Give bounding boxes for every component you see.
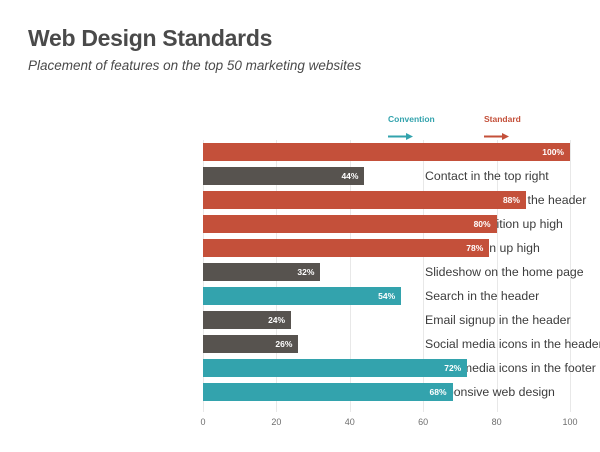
bar-track: 72% [203, 356, 570, 380]
x-axis-tick-label: 80 [492, 417, 502, 427]
chart-bar-row: Search in the header54% [0, 284, 600, 308]
bar-track: 44% [203, 164, 570, 188]
bar-value-label: 88% [503, 191, 520, 209]
chart-bar-row: Call to action up high78% [0, 236, 600, 260]
chart-plot-area: Logo in the top left100%Contact in the t… [0, 0, 600, 452]
bar[interactable]: 26% [203, 335, 298, 353]
bar-value-label: 78% [466, 239, 483, 257]
chart-x-axis: 020406080100 [203, 412, 570, 434]
bar[interactable]: 54% [203, 287, 401, 305]
bar[interactable]: 88% [203, 191, 526, 209]
x-axis-tick-label: 0 [200, 417, 205, 427]
x-axis-tick-label: 20 [271, 417, 281, 427]
chart-bar-row: Value proposition up high80% [0, 212, 600, 236]
bar-value-label: 68% [430, 383, 447, 401]
x-axis-tick-label: 100 [562, 417, 577, 427]
bar[interactable]: 24% [203, 311, 291, 329]
bar-track: 68% [203, 380, 570, 404]
chart-bar-row: Responsive web design68% [0, 380, 600, 404]
bar[interactable]: 44% [203, 167, 364, 185]
bar-value-label: 80% [474, 215, 491, 233]
chart-bar-row: Social media icons in the footer72% [0, 356, 600, 380]
chart-bar-row: Slideshow on the home page32% [0, 260, 600, 284]
bar[interactable]: 100% [203, 143, 570, 161]
bar-value-label: 32% [297, 263, 314, 281]
bar-track: 54% [203, 284, 570, 308]
bar[interactable]: 80% [203, 215, 497, 233]
bar[interactable]: 68% [203, 383, 453, 401]
bar-value-label: 26% [275, 335, 292, 353]
bar-track: 24% [203, 308, 570, 332]
bar-value-label: 44% [341, 167, 358, 185]
bar-value-label: 54% [378, 287, 395, 305]
bar-track: 80% [203, 212, 570, 236]
chart-page: Web Design Standards Placement of featur… [0, 0, 600, 452]
chart-bar-row: Logo in the top left100% [0, 140, 600, 164]
bar-track: 88% [203, 188, 570, 212]
chart-bar-row: Contact in the top right44% [0, 164, 600, 188]
x-axis-tick-label: 60 [418, 417, 428, 427]
bar-track: 26% [203, 332, 570, 356]
chart-bar-row: Social media icons in the header26% [0, 332, 600, 356]
bar-value-label: 72% [444, 359, 461, 377]
x-axis-tick-label: 40 [345, 417, 355, 427]
bar[interactable]: 72% [203, 359, 467, 377]
bar-track: 78% [203, 236, 570, 260]
bar-track: 32% [203, 260, 570, 284]
bar[interactable]: 78% [203, 239, 489, 257]
bar[interactable]: 32% [203, 263, 320, 281]
bar-value-label: 24% [268, 311, 285, 329]
chart-bar-row: Main navigation in the header88% [0, 188, 600, 212]
bar-value-label: 100% [542, 143, 564, 161]
chart-bar-row: Email signup in the header24% [0, 308, 600, 332]
chart-bar-rows: Logo in the top left100%Contact in the t… [0, 140, 600, 404]
bar-track: 100% [203, 140, 570, 164]
